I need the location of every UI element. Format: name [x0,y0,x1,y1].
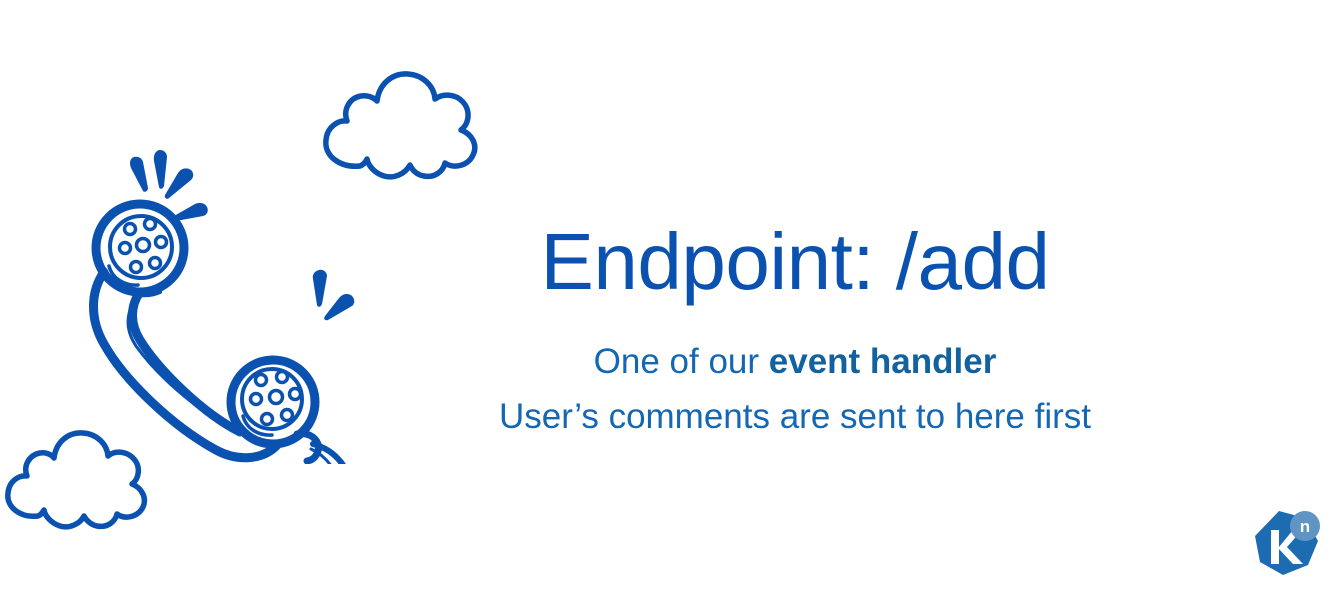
subtitle-line-1: One of our event handler [430,344,1160,379]
cloud-bottom-decoration [0,424,164,532]
page-title: Endpoint: /add [430,222,1160,302]
logo-letter-n: n [1300,517,1310,536]
subtitle-line-2: User’s comments are sent to here first [430,399,1160,434]
cloud-top-decoration [316,66,488,184]
subtitle-line-1-emphasis: event handler [769,342,997,381]
subtitle-line-1-prefix: One of our [594,342,769,381]
knative-logo: n [1248,505,1326,583]
slide-canvas: Endpoint: /add One of our event handler … [0,0,1343,595]
ringing-phone-handset-illustration [68,144,368,464]
slide-text-block: Endpoint: /add One of our event handler … [430,222,1160,434]
